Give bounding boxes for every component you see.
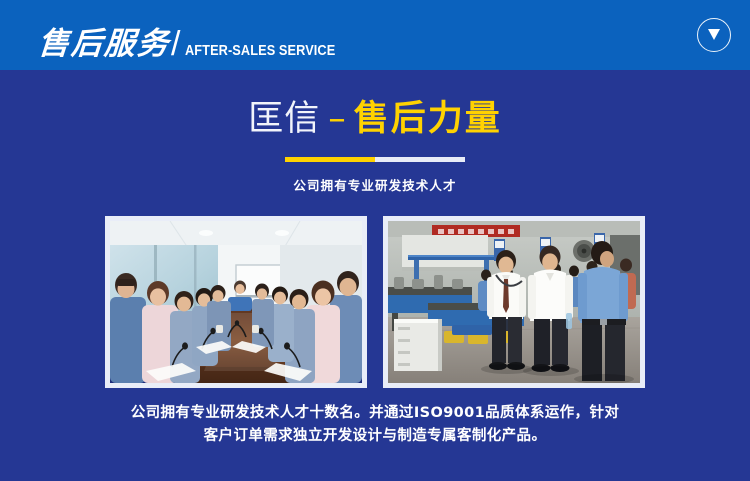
header-title-en: AFTER-SALES SERVICE xyxy=(185,44,335,59)
description-block: 公司拥有专业研发技术人才十数名。并通过ISO9001品质体系运作，针对 客户订单… xyxy=(0,402,750,448)
chevron-down-button[interactable] xyxy=(697,18,731,52)
description-line-1: 公司拥有专业研发技术人才十数名。并通过ISO9001品质体系运作，针对 xyxy=(0,402,750,425)
after-sales-service-banner: 售后服务 / AFTER-SALES SERVICE 匡信–售后力量 公司拥有专… xyxy=(0,0,750,481)
header-title-separator: / xyxy=(171,27,180,61)
page-title: 匡信–售后力量 xyxy=(0,100,750,139)
header-band: 售后服务 / AFTER-SALES SERVICE xyxy=(0,0,750,70)
title-divider-right-segment xyxy=(375,157,465,162)
title-block: 匡信–售后力量 公司拥有专业研发技术人才 xyxy=(0,100,750,194)
title-divider xyxy=(285,157,465,162)
body-area: 匡信–售后力量 公司拥有专业研发技术人才 xyxy=(0,70,750,481)
meeting-room-image xyxy=(110,221,362,383)
chevron-down-icon xyxy=(708,29,720,40)
title-divider-left-segment xyxy=(285,157,375,162)
factory-floor-photo xyxy=(383,216,645,388)
photo-row xyxy=(105,216,645,388)
meeting-room-photo xyxy=(105,216,367,388)
factory-floor-image xyxy=(388,221,640,383)
page-title-brand: 匡信 xyxy=(248,99,320,139)
header-title-group: 售后服务 / AFTER-SALES SERVICE xyxy=(38,16,356,60)
page-subtitle: 公司拥有专业研发技术人才 xyxy=(0,175,750,194)
page-title-dash: – xyxy=(328,99,346,139)
page-title-highlight: 售后力量 xyxy=(354,99,502,139)
description-line-2: 客户订单需求独立开发设计与制造专属客制化产品。 xyxy=(0,425,750,448)
header-title-cn: 售后服务 xyxy=(37,29,171,60)
